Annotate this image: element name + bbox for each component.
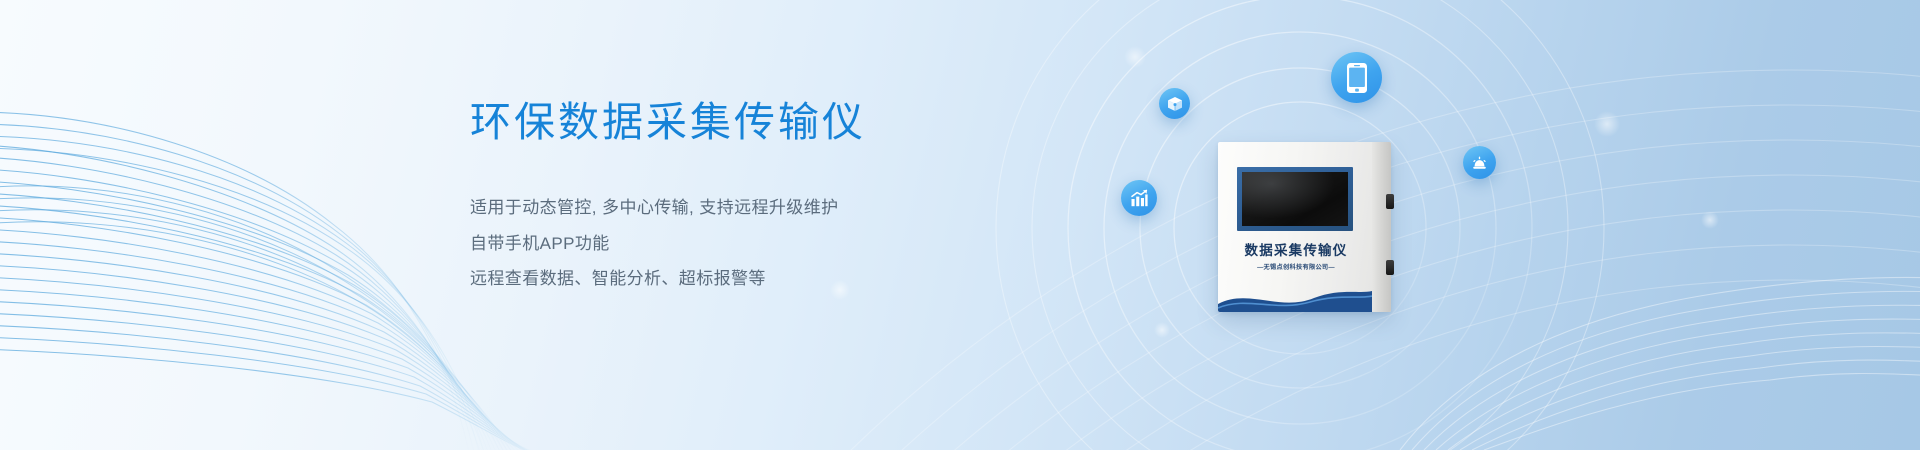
feature-line-1: 适用于动态管控, 多中心传输, 支持远程升级维护 (470, 190, 990, 225)
device-screen (1242, 172, 1348, 226)
device-wave-graphic (1218, 282, 1372, 312)
device-side-panel (1372, 142, 1391, 312)
mobile-phone-icon[interactable] (1331, 52, 1382, 103)
page-title: 环保数据采集传输仪 (470, 98, 990, 146)
device-company-name: —无锡点创科技有限公司— (1226, 262, 1366, 271)
device-model-name: 数据采集传输仪 (1226, 239, 1366, 259)
feature-list: 适用于动态管控, 多中心传输, 支持远程升级维护 自带手机APP功能 远程查看数… (470, 190, 990, 296)
bar-chart-icon[interactable] (1121, 180, 1157, 216)
device-hinge-bottom (1386, 260, 1394, 275)
device-nameplate: 数据采集传输仪 —无锡点创科技有限公司— (1226, 239, 1366, 271)
product-hero-banner: 环保数据采集传输仪 适用于动态管控, 多中心传输, 支持远程升级维护 自带手机A… (0, 0, 1920, 450)
package-box-icon[interactable] (1159, 88, 1190, 119)
product-device-image: 数据采集传输仪 —无锡点创科技有限公司— (1218, 142, 1391, 312)
device-enclosure: 数据采集传输仪 —无锡点创科技有限公司— (1218, 142, 1391, 312)
alarm-siren-icon[interactable] (1463, 146, 1496, 179)
device-screen-bezel (1237, 167, 1353, 231)
hero-text-block: 环保数据采集传输仪 适用于动态管控, 多中心传输, 支持远程升级维护 自带手机A… (470, 98, 990, 296)
device-hinge-top (1386, 194, 1394, 209)
feature-line-3: 远程查看数据、智能分析、超标报警等 (470, 261, 990, 296)
feature-line-2: 自带手机APP功能 (470, 226, 990, 261)
